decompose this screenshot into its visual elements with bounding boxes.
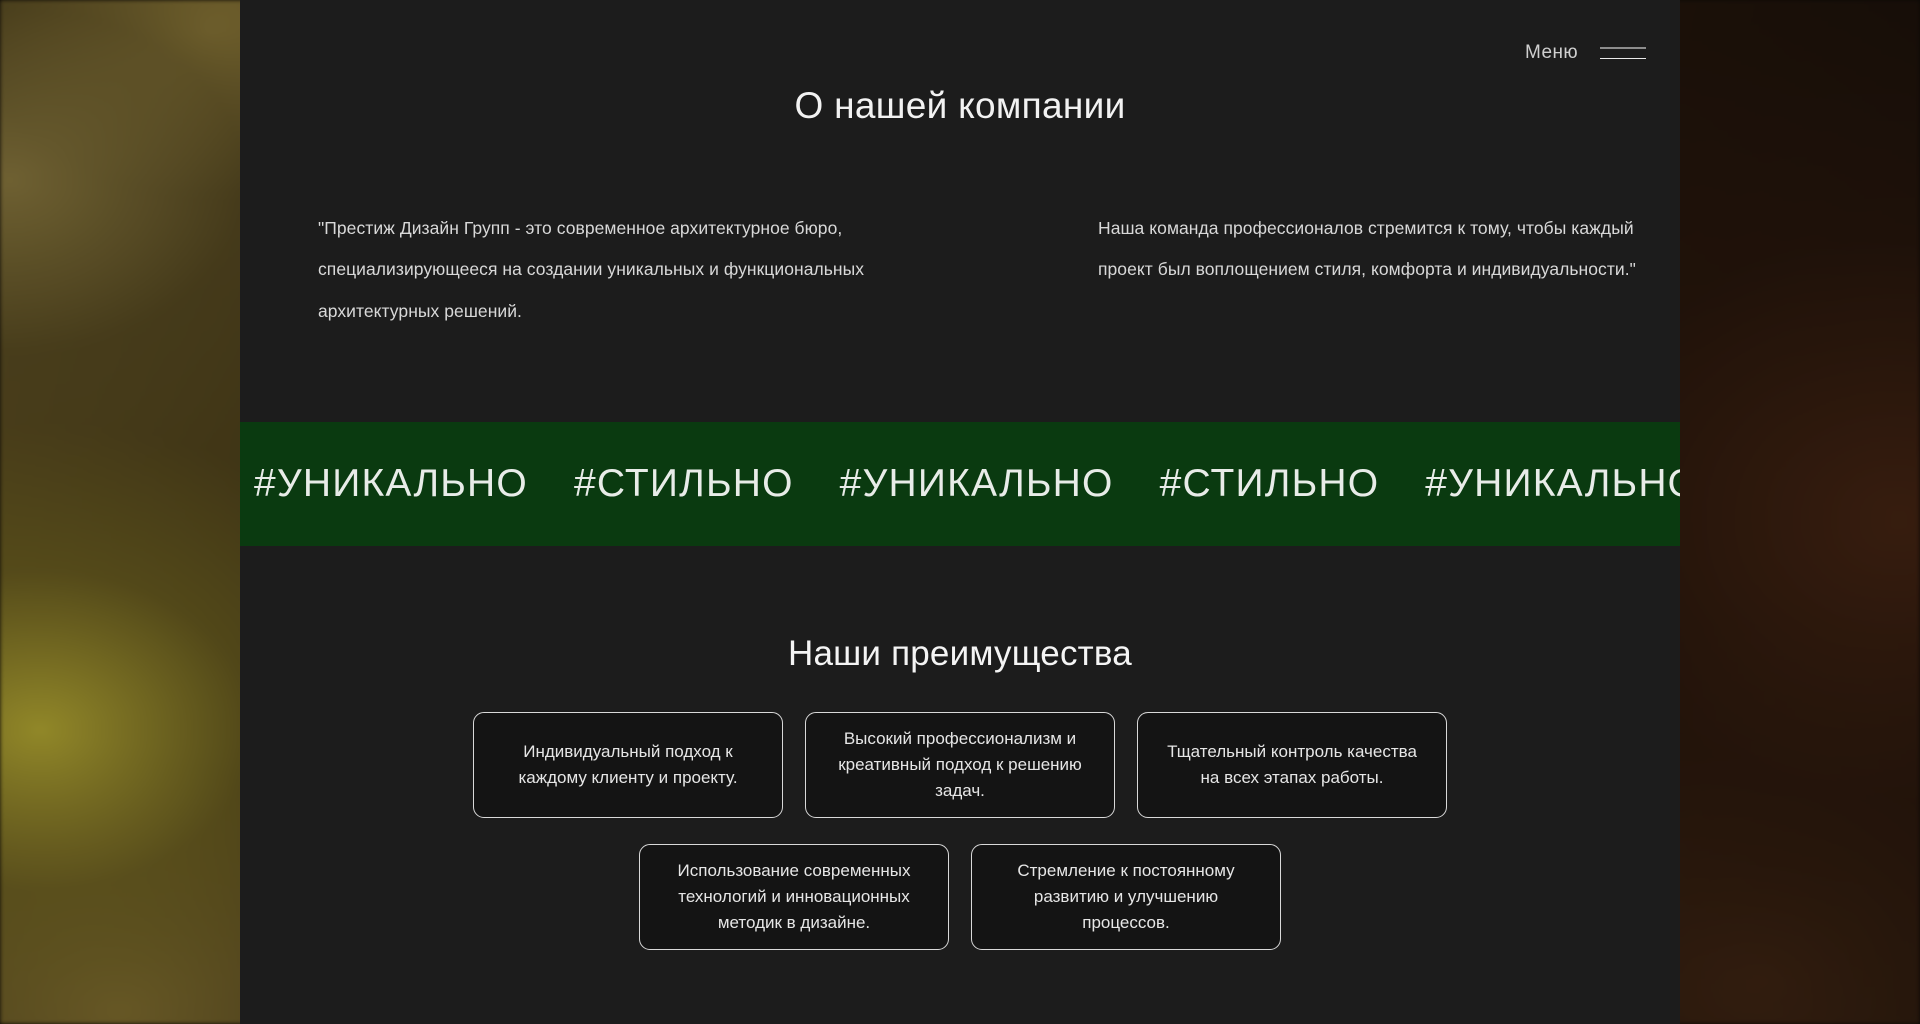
hashtag-marquee-band: #УНИКАЛЬНО #СТИЛЬНО #УНИКАЛЬНО #СТИЛЬНО … bbox=[240, 422, 1680, 546]
about-paragraph-left: "Престиж Дизайн Групп - это современное … bbox=[318, 208, 900, 332]
marquee-item: #УНИКАЛЬНО bbox=[254, 462, 528, 506]
hamburger-menu-icon[interactable] bbox=[1600, 47, 1646, 60]
advantages-section-title: Наши преимущества bbox=[240, 634, 1680, 674]
advantage-card[interactable]: Высокий профессионализм и креативный под… bbox=[805, 712, 1115, 818]
about-paragraph-columns: "Престиж Дизайн Групп - это современное … bbox=[240, 208, 1680, 332]
advantage-card-text: Использование современных технологий и и… bbox=[658, 858, 930, 937]
advantage-card[interactable]: Индивидуальный подход к каждому клиенту … bbox=[473, 712, 783, 818]
marquee-item: #СТИЛЬНО bbox=[574, 462, 794, 506]
marquee-track: #УНИКАЛЬНО #СТИЛЬНО #УНИКАЛЬНО #СТИЛЬНО … bbox=[240, 462, 1680, 506]
hamburger-line-bottom bbox=[1600, 58, 1646, 60]
advantage-card[interactable]: Стремление к постоянному развитию и улуч… bbox=[971, 844, 1281, 950]
advantage-card[interactable]: Тщательный контроль качества на всех эта… bbox=[1137, 712, 1447, 818]
advantages-row-second: Использование современных технологий и и… bbox=[639, 844, 1281, 950]
about-column-right: Наша команда профессионалов стремится к … bbox=[960, 208, 1680, 332]
marquee-item: #УНИКАЛЬНО bbox=[1425, 462, 1680, 506]
advantage-card-text: Индивидуальный подход к каждому клиенту … bbox=[492, 739, 764, 791]
marquee-item: #УНИКАЛЬНО bbox=[840, 462, 1114, 506]
advantage-card-text: Высокий профессионализм и креативный под… bbox=[824, 726, 1096, 805]
hamburger-line-top bbox=[1600, 47, 1646, 49]
marquee-item: #СТИЛЬНО bbox=[1160, 462, 1380, 506]
advantages-cards: Индивидуальный подход к каждому клиенту … bbox=[240, 712, 1680, 950]
advantage-card[interactable]: Использование современных технологий и и… bbox=[639, 844, 949, 950]
advantage-card-text: Тщательный контроль качества на всех эта… bbox=[1156, 739, 1428, 791]
advantage-card-text: Стремление к постоянному развитию и улуч… bbox=[990, 858, 1262, 937]
advantages-row-first: Индивидуальный подход к каждому клиенту … bbox=[473, 712, 1447, 818]
menu-button[interactable]: Меню bbox=[1525, 42, 1646, 64]
about-column-left: "Престиж Дизайн Групп - это современное … bbox=[240, 208, 960, 332]
menu-label: Меню bbox=[1525, 42, 1578, 64]
about-paragraph-right: Наша команда профессионалов стремится к … bbox=[1098, 208, 1650, 291]
about-section-title: О нашей компании bbox=[240, 85, 1680, 127]
content-panel: Меню О нашей компании "Престиж Дизайн Гр… bbox=[240, 0, 1680, 1024]
